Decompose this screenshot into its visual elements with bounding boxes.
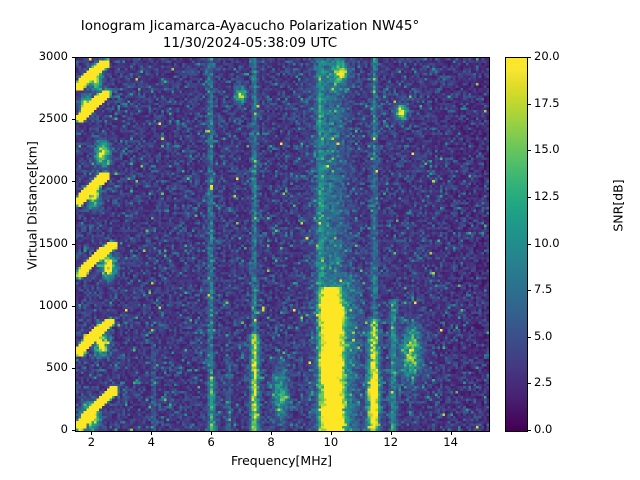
colorbar-tick-mark — [528, 290, 532, 291]
y-tick-label: 3000 — [39, 49, 68, 63]
figure-title: Ionogram Jicamarca-Ayacucho Polarization… — [0, 18, 500, 52]
x-tick-label: 4 — [131, 435, 171, 449]
y-tick-label: 1000 — [39, 298, 68, 312]
y-tick-mark — [72, 119, 76, 120]
x-tick-mark — [331, 431, 332, 435]
colorbar-tick-mark — [528, 244, 532, 245]
y-tick-mark — [72, 57, 76, 58]
x-tick-mark — [451, 431, 452, 435]
x-tick-mark — [91, 431, 92, 435]
x-tick-mark — [151, 431, 152, 435]
y-tick-label: 2000 — [39, 173, 68, 187]
x-tick-label: 8 — [251, 435, 291, 449]
y-tick-mark — [72, 306, 76, 307]
y-tick-mark — [72, 181, 76, 182]
y-tick-label: 1500 — [39, 236, 68, 250]
x-axis-label: Frequency[MHz] — [75, 453, 488, 468]
y-tick-label: 2500 — [39, 111, 68, 125]
x-tick-mark — [271, 431, 272, 435]
colorbar — [505, 57, 528, 432]
colorbar-tick-mark — [528, 430, 532, 431]
ionogram-plot-area[interactable] — [75, 57, 490, 432]
x-tick-label: 12 — [371, 435, 411, 449]
y-tick-mark — [72, 244, 76, 245]
ionogram-heatmap-canvas — [76, 58, 489, 431]
colorbar-tick-mark — [528, 57, 532, 58]
colorbar-tick-mark — [528, 337, 532, 338]
colorbar-tick-label: 15.0 — [534, 142, 560, 156]
y-tick-label: 0 — [61, 422, 68, 436]
colorbar-tick-label: 5.0 — [534, 329, 552, 343]
y-tick-mark — [72, 368, 76, 369]
colorbar-tick-mark — [528, 150, 532, 151]
ionogram-figure: Ionogram Jicamarca-Ayacucho Polarization… — [0, 0, 640, 480]
colorbar-tick-mark — [528, 197, 532, 198]
colorbar-tick-label: 7.5 — [534, 282, 552, 296]
x-tick-mark — [391, 431, 392, 435]
y-axis-label: Virtual Distance[km] — [25, 86, 40, 326]
x-tick-label: 10 — [311, 435, 351, 449]
colorbar-tick-mark — [528, 104, 532, 105]
title-line-2: 11/30/2024-05:38:09 UTC — [0, 35, 500, 52]
x-tick-label: 6 — [191, 435, 231, 449]
y-tick-label: 500 — [46, 360, 68, 374]
x-tick-label: 2 — [71, 435, 111, 449]
colorbar-tick-mark — [528, 383, 532, 384]
colorbar-tick-label: 12.5 — [534, 189, 560, 203]
title-line-1: Ionogram Jicamarca-Ayacucho Polarization… — [81, 18, 419, 34]
colorbar-gradient-canvas — [506, 58, 527, 431]
colorbar-tick-label: 10.0 — [534, 236, 560, 250]
x-tick-label: 14 — [431, 435, 471, 449]
colorbar-tick-label: 20.0 — [534, 49, 560, 63]
x-tick-mark — [211, 431, 212, 435]
colorbar-tick-label: 0.0 — [534, 422, 552, 436]
colorbar-label: SNR[dB] — [611, 86, 626, 326]
y-tick-mark — [72, 430, 76, 431]
colorbar-tick-label: 17.5 — [534, 96, 560, 110]
colorbar-tick-label: 2.5 — [534, 375, 552, 389]
